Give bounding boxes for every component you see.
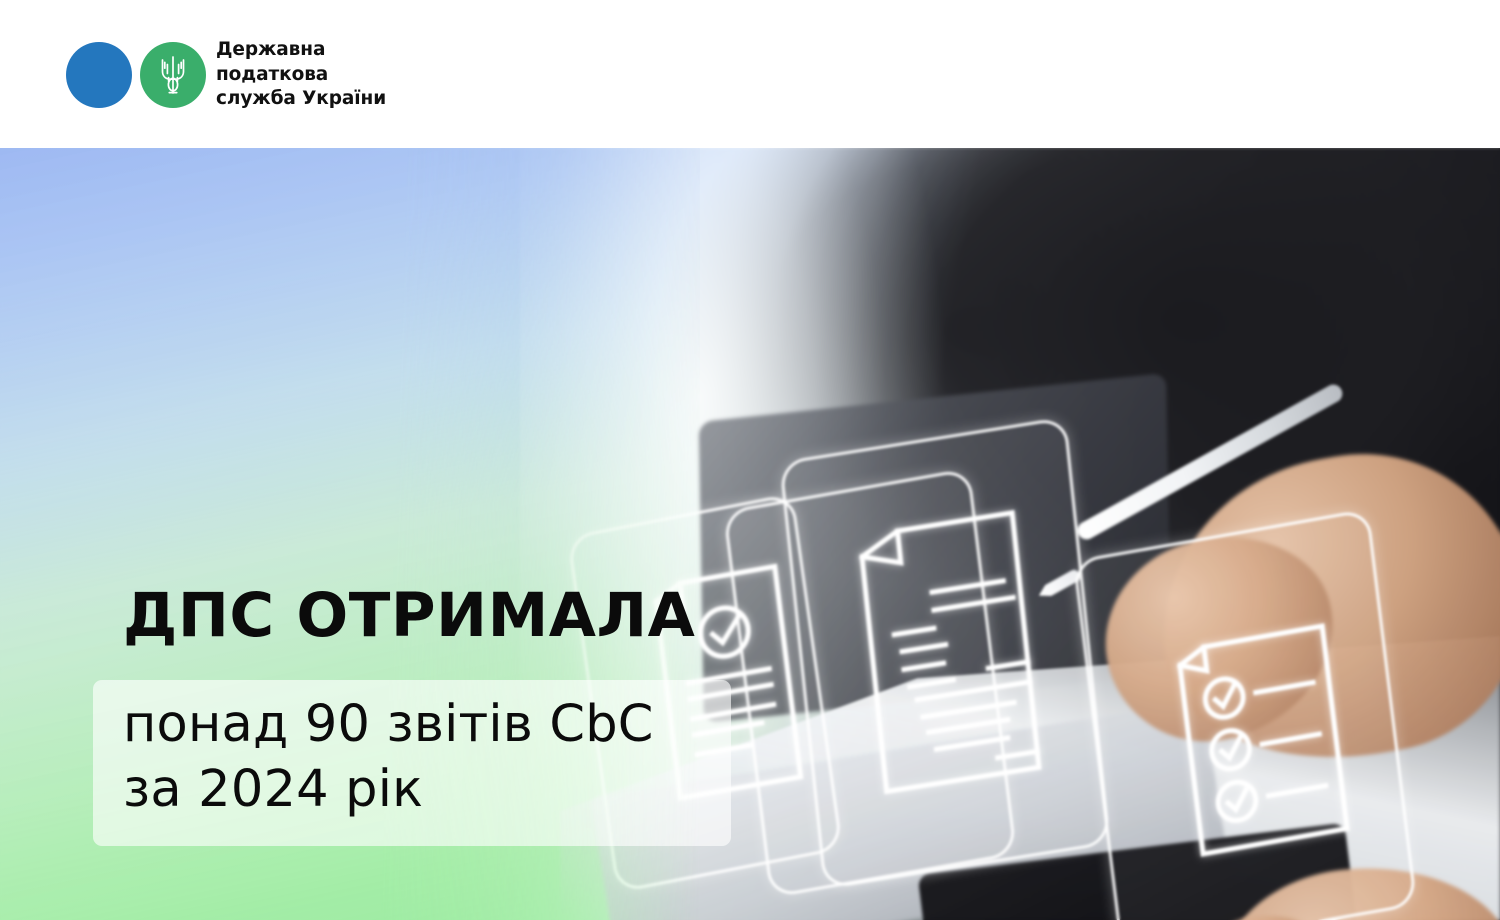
logo-line-2: податкова xyxy=(216,63,386,88)
page-title: ДПС ОТРИМАЛА xyxy=(123,585,695,647)
logo-line-3: служба України xyxy=(216,87,386,112)
logo-line-1: Державна xyxy=(216,38,386,63)
subtitle: понад 90 звітів CbC за 2024 рік xyxy=(123,692,723,822)
blue-circle-mark-icon xyxy=(66,42,132,108)
subtitle-line-1: понад 90 звітів CbC xyxy=(123,692,723,757)
logo-wordmark: Державна податкова служба України xyxy=(216,38,386,112)
site-header: Державна податкова служба України xyxy=(0,0,1500,148)
subtitle-line-2: за 2024 рік xyxy=(123,757,723,822)
hero-banner-image: ДПС ОТРИМАЛА понад 90 звітів CbC за 2024… xyxy=(0,148,1500,920)
ukrainian-trident-icon xyxy=(158,54,188,96)
logo-marks xyxy=(66,42,206,108)
banner: Державна податкова служба України xyxy=(0,0,1500,920)
dps-logo[interactable]: Державна податкова служба України xyxy=(66,38,386,112)
